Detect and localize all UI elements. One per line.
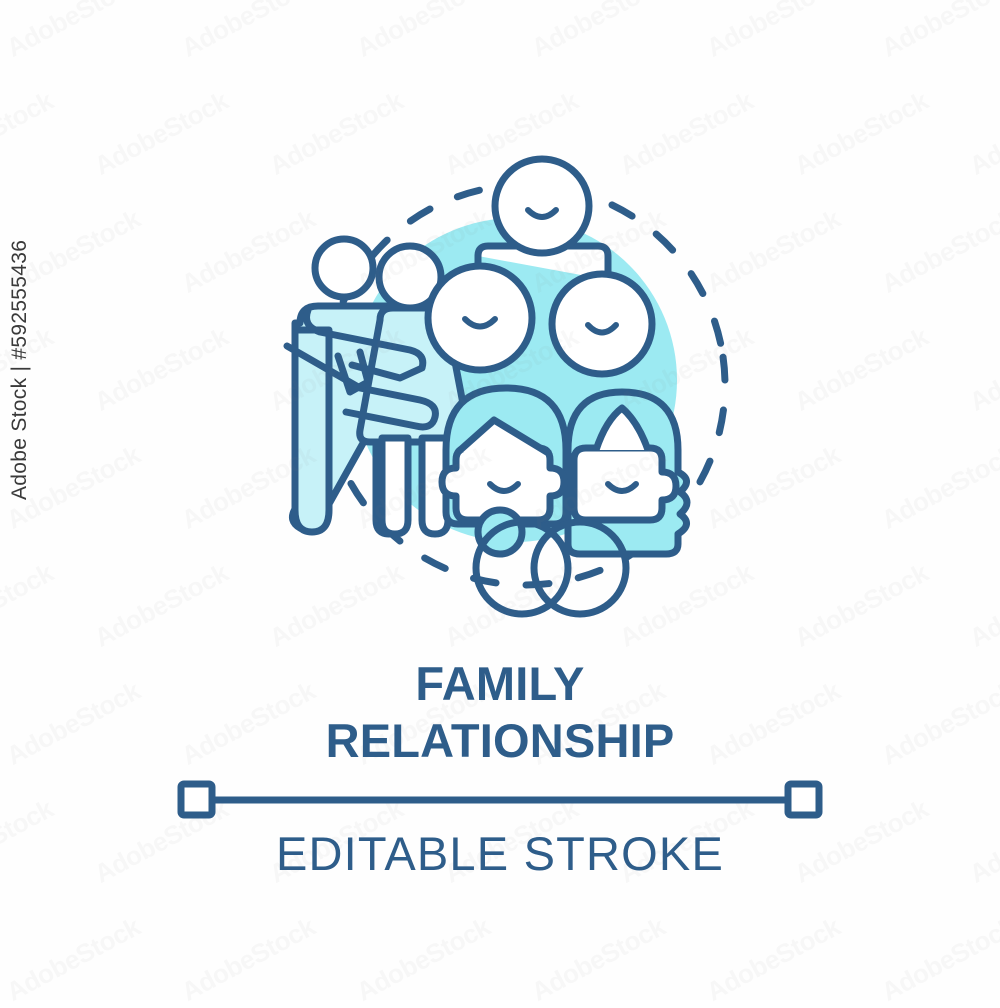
watermark-tile: AdobeStock (0, 85, 58, 181)
stock-id-watermark: Adobe Stock | #592555436 (8, 240, 32, 500)
canvas-root: FAMILY RELATIONSHIP EDITABLE STROKE Adob… (0, 0, 1000, 1000)
watermark-tile: AdobeStock (789, 557, 933, 653)
editable-stroke-divider (175, 778, 825, 822)
watermark-tile: AdobeStock (526, 0, 670, 64)
watermark-tile: AdobeStock (351, 911, 495, 1007)
watermark-tile: AdobeStock (789, 321, 933, 417)
watermark-tile: AdobeStock (876, 0, 1000, 64)
watermark-tile: AdobeStock (1, 911, 145, 1007)
watermark-tile: AdobeStock (701, 911, 845, 1007)
watermark-tile: AdobeStock (964, 321, 1000, 417)
watermark-tile: AdobeStock (176, 911, 320, 1007)
couple-head-left (315, 239, 373, 297)
children-faces (442, 388, 687, 614)
tree-face-child-right (552, 274, 652, 374)
watermark-tile: AdobeStock (526, 911, 670, 1007)
watermark-tile: AdobeStock (876, 439, 1000, 535)
family-relationship-concept-icon (250, 120, 770, 640)
watermark-tile: AdobeStock (789, 85, 933, 181)
girl-face (574, 448, 676, 520)
watermark-tile: AdobeStock (876, 203, 1000, 299)
watermark-tile: AdobeStock (89, 321, 233, 417)
subtitle-editable-stroke: EDITABLE STROKE (0, 826, 1000, 882)
watermark-tile: AdobeStock (1, 0, 145, 64)
watermark-tile: AdobeStock (701, 0, 845, 64)
tree-face-child-left (428, 266, 532, 370)
tree-face-parent (495, 159, 589, 253)
watermark-tile: AdobeStock (351, 0, 495, 64)
watermark-tile: AdobeStock (176, 0, 320, 64)
watermark-tile: AdobeStock (964, 557, 1000, 653)
couple-leg-a (382, 438, 408, 534)
divider-handle-left (181, 784, 212, 815)
title-line-2: RELATIONSHIP (0, 712, 1000, 769)
watermark-tile: AdobeStock (0, 557, 58, 653)
watermark-tile: AdobeStock (876, 911, 1000, 1007)
page-title: FAMILY RELATIONSHIP (0, 655, 1000, 769)
watermark-tile: AdobeStock (89, 557, 233, 653)
watermark-tile: AdobeStock (89, 85, 233, 181)
divider-handle-right (788, 784, 819, 815)
title-line-1: FAMILY (0, 655, 1000, 712)
watermark-tile: AdobeStock (964, 85, 1000, 181)
